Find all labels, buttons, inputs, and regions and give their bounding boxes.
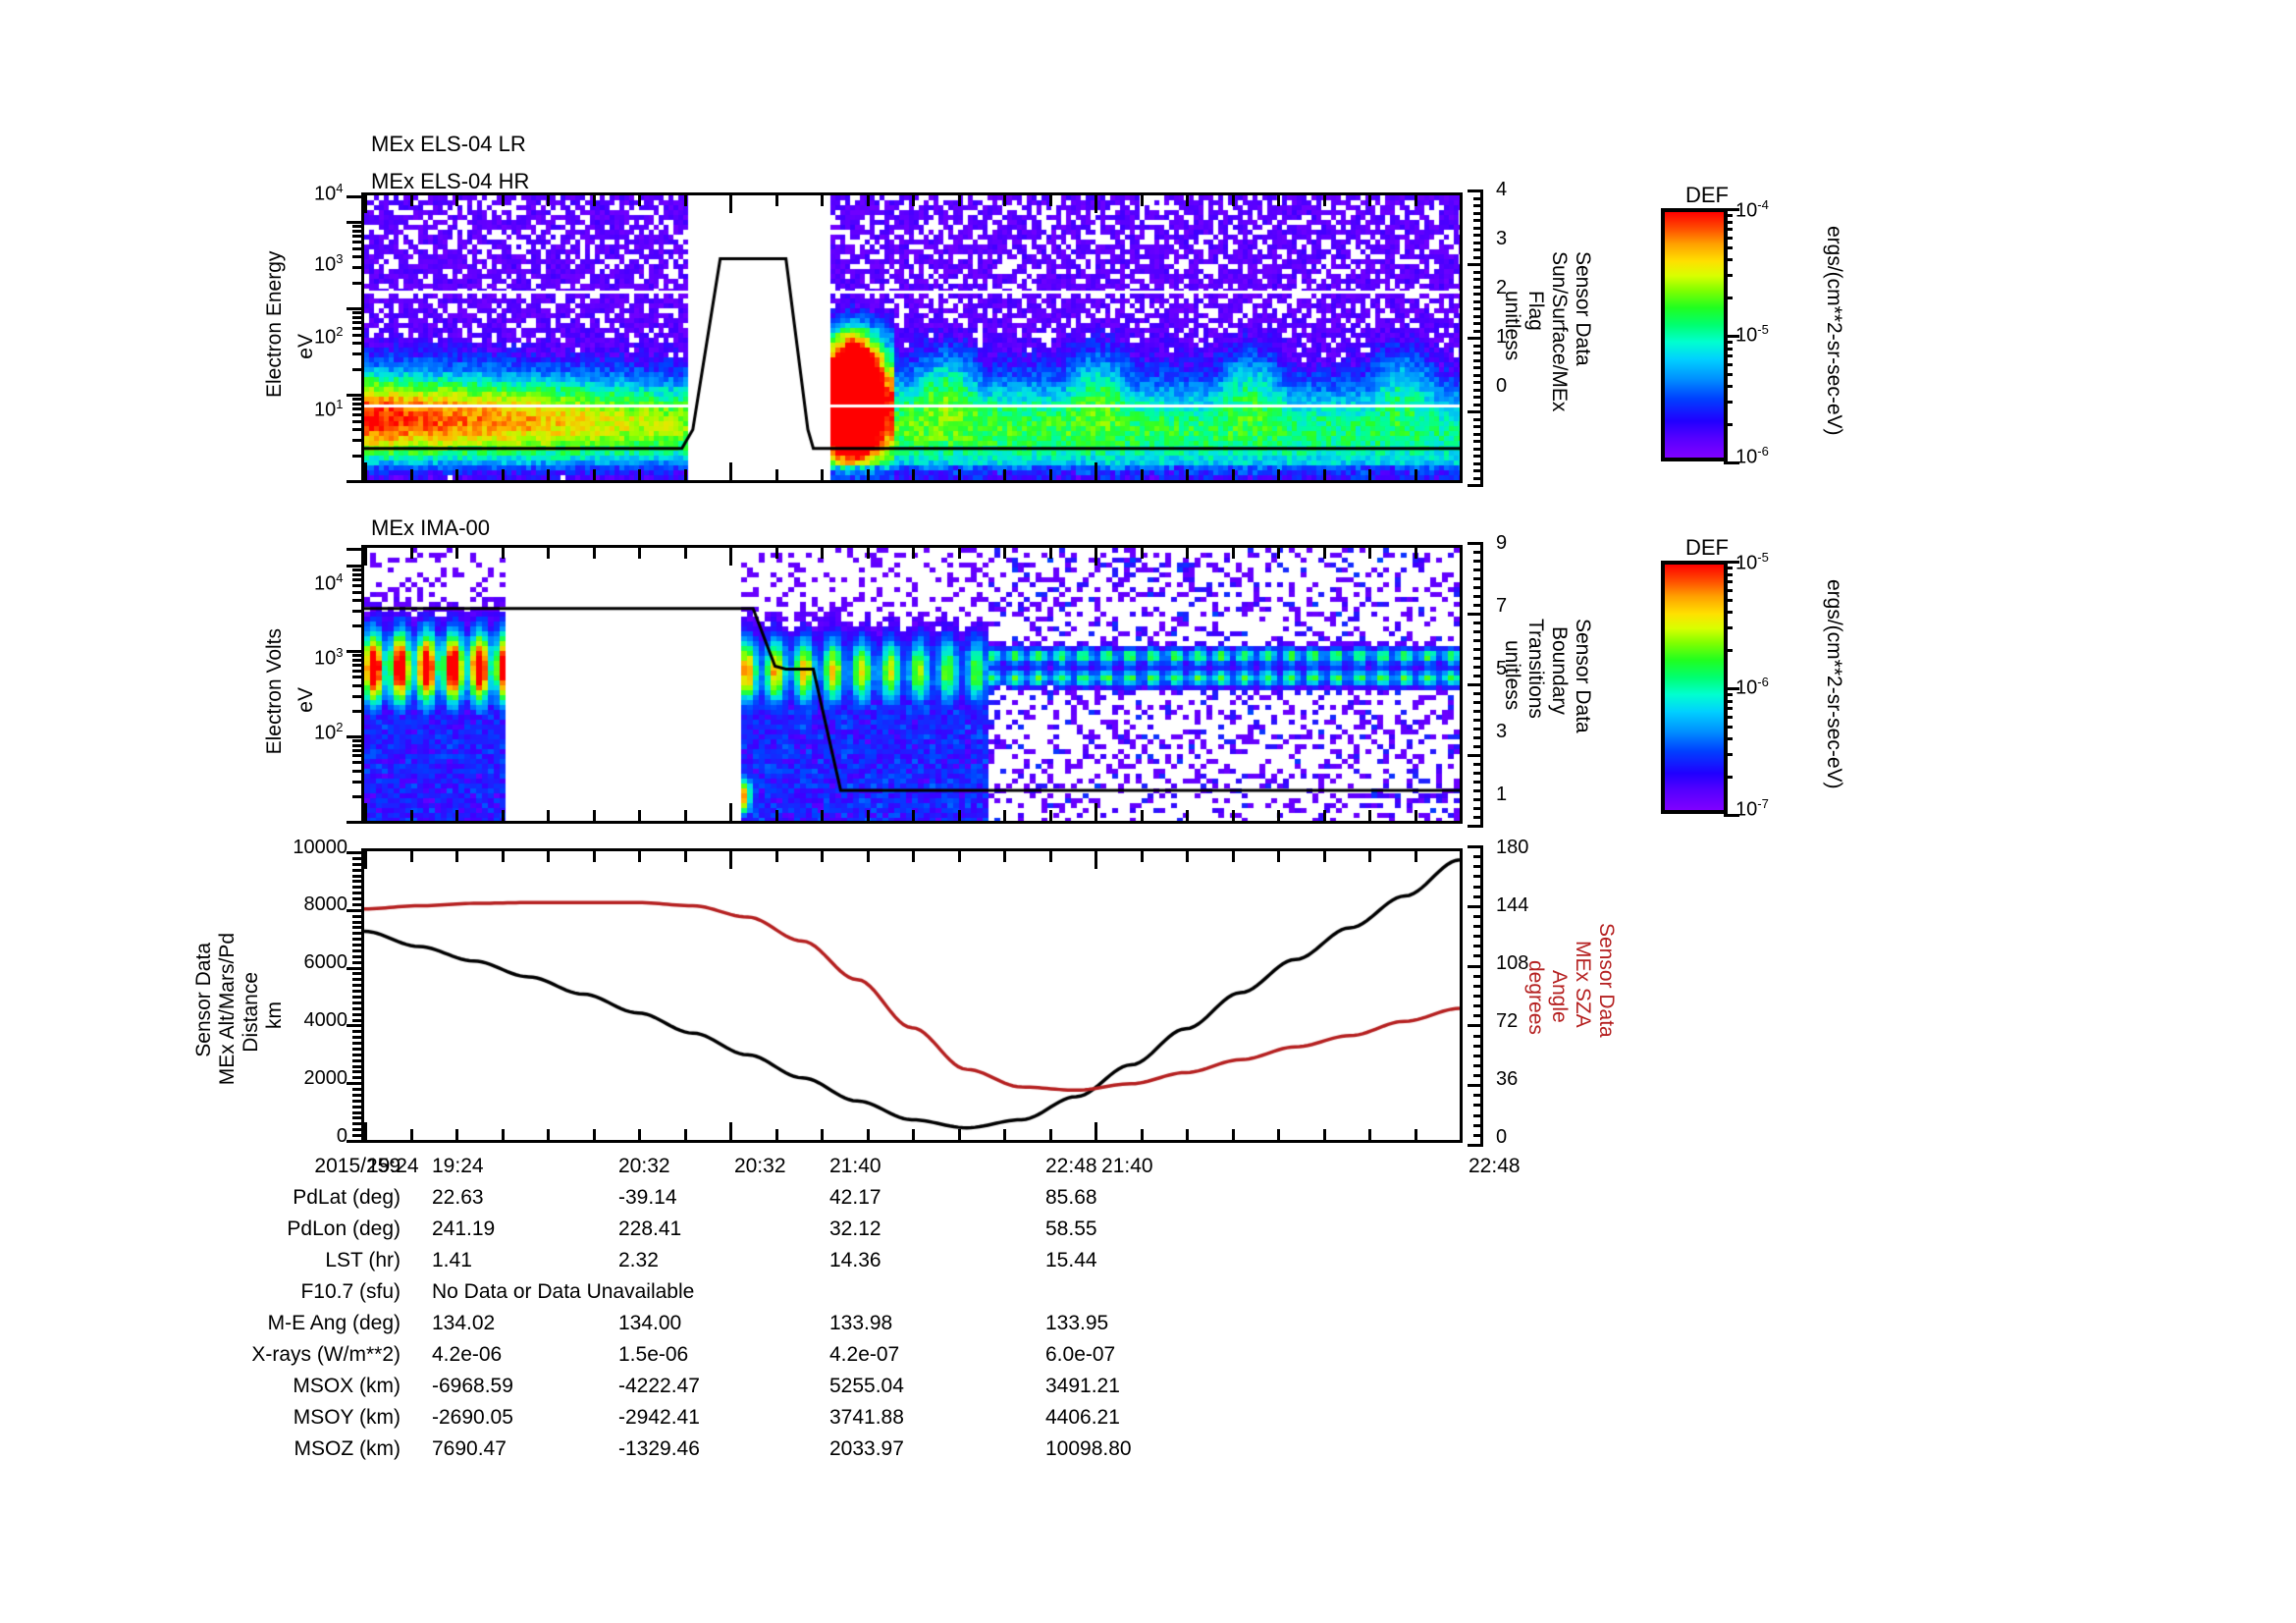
axis-tick: [455, 469, 458, 480]
axis-tick: [547, 1129, 550, 1140]
axis-tick: [1473, 448, 1483, 451]
axis-tick: [1368, 1129, 1371, 1140]
table-cell: 241.19: [432, 1217, 495, 1241]
table-cell: -4222.47: [618, 1375, 700, 1398]
panel3-rtick-72: 72: [1496, 1010, 1518, 1033]
axis-tick: [867, 195, 870, 206]
axis-tick: [352, 915, 362, 918]
axis-tick: [1473, 630, 1483, 633]
table-cell: 3741.88: [829, 1406, 904, 1430]
table-row-label: MSOX (km): [177, 1375, 400, 1398]
table-cell: 2033.97: [829, 1437, 904, 1461]
axis-tick: [1232, 851, 1235, 862]
axis-tick: [1724, 348, 1733, 351]
axis-tick: [352, 439, 362, 442]
axis-tick: [1049, 195, 1052, 206]
axis-tick: [352, 368, 362, 371]
axis-tick: [1473, 710, 1483, 713]
panel2-ytick-10e2: 102: [314, 720, 343, 745]
panel2-colorbar-max-exp: -5: [1757, 550, 1769, 565]
axis-tick: [352, 676, 362, 678]
axis-tick: [867, 548, 870, 559]
panel1-ytick-10e2: 102: [314, 324, 343, 350]
panel2-colorbar-mid-base: 10: [1735, 677, 1757, 699]
panel2-plot-area[interactable]: [361, 545, 1463, 824]
axis-tick: [1473, 234, 1483, 237]
axis-tick: [1468, 613, 1483, 616]
panel1-colorbar-max-base: 10: [1735, 200, 1757, 222]
axis-tick: [1473, 425, 1483, 428]
axis-tick: [352, 599, 362, 602]
axis-tick: [352, 225, 362, 228]
axis-tick: [867, 469, 870, 480]
axis-tick: [352, 761, 362, 764]
axis-tick: [1277, 1129, 1280, 1140]
panel2-colorbar-mid: 10-6: [1735, 675, 1769, 700]
axis-tick: [1468, 1144, 1483, 1147]
axis-tick: [1368, 548, 1371, 559]
axis-tick: [593, 1129, 596, 1140]
axis-tick: [1473, 1004, 1483, 1007]
panel2-right-axis: [1465, 542, 1490, 825]
axis-tick: [1095, 548, 1097, 566]
axis-tick: [455, 548, 458, 559]
axis-tick: [1473, 701, 1483, 704]
axis-tick: [1473, 915, 1483, 918]
axis-tick: [729, 548, 732, 566]
axis-tick: [1473, 816, 1483, 819]
axis-tick: [1415, 1129, 1417, 1140]
axis-tick: [1473, 286, 1483, 289]
axis-tick: [1473, 359, 1483, 362]
table-cell: 85.68: [1045, 1186, 1097, 1210]
axis-tick: [1468, 410, 1483, 413]
panel2-colorbar-min: 10-7: [1735, 796, 1769, 822]
axis-tick: [958, 195, 961, 206]
axis-tick: [1724, 423, 1733, 426]
axis-tick: [352, 739, 362, 742]
axis-tick: [1473, 586, 1483, 589]
panel2-y-axis-label: Electron Volts: [263, 628, 287, 754]
panel3-right-axis: [1465, 845, 1490, 1144]
axis-tick: [352, 880, 362, 883]
panel2-colorbar-max: 10-5: [1735, 550, 1769, 575]
axis-tick: [352, 749, 362, 752]
axis-tick: [410, 810, 413, 821]
axis-tick: [1473, 404, 1483, 406]
table-cell: 133.95: [1045, 1312, 1108, 1335]
axis-tick: [775, 851, 778, 862]
table-cell: 20:32: [618, 1155, 670, 1178]
panel3-y-axis-label-1: Sensor Data: [192, 943, 216, 1057]
panel1-colorbar-min-exp: -6: [1757, 444, 1769, 459]
panel2-ytick-10e4-exp: 4: [336, 570, 343, 585]
panel2-ytick-10e4: 104: [314, 570, 343, 596]
table-cell: 133.98: [829, 1312, 892, 1335]
axis-tick: [547, 810, 550, 821]
axis-tick: [352, 407, 362, 410]
axis-tick: [352, 781, 362, 784]
axis-tick: [1473, 271, 1483, 274]
axis-tick: [1473, 781, 1483, 784]
axis-tick: [1473, 1114, 1483, 1117]
axis-tick: [1724, 228, 1733, 231]
axis-tick: [1724, 753, 1733, 756]
table-cell: 42.17: [829, 1186, 881, 1210]
axis-tick: [352, 455, 362, 458]
axis-tick: [912, 195, 915, 206]
axis-tick: [1724, 297, 1733, 299]
panel3-rtick-36: 36: [1496, 1068, 1518, 1091]
panel3-rtick-0: 0: [1496, 1126, 1507, 1149]
axis-tick: [1473, 366, 1483, 369]
table-cell: 22:48: [1045, 1155, 1097, 1178]
axis-tick: [352, 978, 362, 981]
axis-tick: [1473, 622, 1483, 624]
panel1-plot-area[interactable]: [361, 192, 1463, 483]
axis-tick: [352, 670, 362, 673]
axis-tick: [352, 573, 362, 576]
table-cell: 228.41: [618, 1217, 681, 1241]
axis-tick: [1473, 1104, 1483, 1107]
axis-tick: [1473, 462, 1483, 465]
axis-tick: [347, 1082, 362, 1085]
table-cell: -6968.59: [432, 1375, 513, 1398]
axis-tick: [958, 1129, 961, 1140]
axis-tick: [1473, 807, 1483, 810]
axis-tick: [352, 654, 362, 657]
axis-tick: [352, 1116, 362, 1119]
axis-tick: [1473, 895, 1483, 898]
table-cell: 10098.80: [1045, 1437, 1132, 1461]
axis-tick: [364, 462, 367, 480]
axis-tick: [1724, 214, 1733, 217]
axis-tick: [821, 851, 824, 862]
axis-tick: [1415, 195, 1417, 206]
panel2-y-axis-units-text: eV: [294, 687, 317, 713]
axis-tick: [1049, 548, 1052, 559]
axis-tick: [547, 851, 550, 862]
axis-tick: [1724, 237, 1733, 240]
axis-tick: [1473, 227, 1483, 230]
table-cell: No Data or Data Unavailable: [432, 1280, 694, 1304]
axis-tick: [1724, 221, 1733, 224]
axis-tick: [1473, 300, 1483, 303]
axis-tick: [455, 1129, 458, 1140]
axis-tick: [364, 851, 367, 869]
axis-tick: [1473, 855, 1483, 858]
axis-tick: [352, 961, 362, 964]
axis-tick: [352, 1100, 362, 1103]
axis-tick: [1186, 469, 1189, 480]
axis-tick: [958, 548, 961, 559]
axis-tick: [1473, 1134, 1483, 1137]
axis-tick: [1468, 189, 1483, 192]
axis-tick: [1232, 195, 1235, 206]
axis-tick: [1724, 573, 1733, 576]
axis-tick: [1473, 995, 1483, 998]
axis-tick: [352, 342, 362, 345]
axis-tick: [410, 469, 413, 480]
panel3-ytick-8000: 8000: [267, 893, 347, 916]
table-cell: 14.36: [829, 1249, 881, 1272]
axis-tick: [1473, 352, 1483, 354]
axis-tick: [347, 565, 362, 568]
axis-tick: [638, 1129, 641, 1140]
axis-tick: [352, 334, 362, 337]
table-cell: 134.00: [618, 1312, 681, 1335]
axis-tick: [1368, 195, 1371, 206]
axis-tick: [352, 1094, 362, 1097]
panel3-ytick-6000: 6000: [267, 951, 347, 974]
axis-tick: [684, 548, 687, 559]
table-cell: 4406.21: [1045, 1406, 1120, 1430]
axis-tick: [1473, 345, 1483, 348]
axis-tick: [729, 851, 732, 869]
axis-tick: [1724, 589, 1733, 592]
panel3-ytick-4000: 4000: [267, 1009, 347, 1032]
axis-tick: [912, 469, 915, 480]
axis-tick: [547, 548, 550, 559]
axis-tick: [1473, 278, 1483, 281]
axis-tick: [1473, 204, 1483, 207]
axis-tick: [352, 266, 362, 269]
table-cell: 1.5e-06: [618, 1343, 688, 1367]
xaxis-tick-label: 22:48: [1468, 1155, 1521, 1178]
panel2-colorbar-min-base: 10: [1735, 799, 1757, 821]
axis-tick: [1141, 548, 1144, 559]
axis-tick: [1473, 1064, 1483, 1067]
axis-tick: [1473, 418, 1483, 421]
table-cell: 3491.21: [1045, 1375, 1120, 1398]
panel1-spectrogram: [364, 195, 1460, 480]
table-cell: -2690.05: [432, 1406, 513, 1430]
axis-tick: [1473, 242, 1483, 244]
axis-tick: [1141, 195, 1144, 206]
panel2-title: MEx IMA-00: [371, 515, 490, 541]
axis-tick: [455, 851, 458, 862]
axis-tick: [1724, 626, 1733, 629]
axis-tick: [821, 810, 824, 821]
axis-tick: [1468, 484, 1483, 487]
axis-tick: [1724, 258, 1733, 261]
axis-tick: [1473, 577, 1483, 580]
axis-tick: [729, 1122, 732, 1140]
axis-tick: [1232, 1129, 1235, 1140]
table-row-label: MSOY (km): [177, 1406, 400, 1430]
xaxis-tick-label: 20:32: [734, 1155, 786, 1178]
axis-tick: [352, 863, 362, 866]
axis-tick: [502, 810, 505, 821]
axis-tick: [1473, 657, 1483, 660]
table-cell: 4.2e-06: [432, 1343, 502, 1367]
axis-tick: [352, 659, 362, 662]
axis-tick: [352, 875, 362, 878]
axis-tick: [684, 469, 687, 480]
axis-tick: [1095, 195, 1097, 213]
panel1-ytick-10e1: 101: [314, 397, 343, 422]
axis-tick: [347, 548, 362, 551]
panel2-colorbar-title: DEF: [1685, 535, 1729, 561]
panel1-ytick-10e1-base: 10: [314, 400, 336, 421]
axis-tick: [352, 869, 362, 872]
axis-tick: [1724, 385, 1733, 388]
table-cell: 32.12: [829, 1217, 881, 1241]
axis-tick: [638, 195, 641, 206]
axis-tick: [352, 664, 362, 667]
axis-tick: [352, 1088, 362, 1091]
axis-tick: [1473, 692, 1483, 695]
panel2-right-axis-label-2: Boundary: [1547, 626, 1571, 715]
axis-tick: [1468, 754, 1483, 757]
axis-tick: [1460, 851, 1463, 869]
axis-tick: [347, 851, 362, 854]
axis-spine: [361, 195, 364, 480]
axis-tick: [347, 967, 362, 970]
axis-tick: [958, 851, 961, 862]
axis-tick: [1724, 567, 1733, 569]
panel2-ytick-10e2-base: 10: [314, 723, 336, 744]
axis-tick: [1323, 851, 1326, 862]
axis-tick: [1724, 274, 1733, 277]
table-cell: 4.2e-07: [829, 1343, 899, 1367]
axis-tick: [547, 195, 550, 206]
axis-tick: [352, 1076, 362, 1079]
panel1-y-axis-label: Electron Energy: [263, 226, 287, 422]
axis-tick: [364, 195, 367, 213]
axis-tick: [1095, 1122, 1097, 1140]
axis-tick: [1473, 381, 1483, 384]
panel3-ytick-2000: 2000: [267, 1067, 347, 1090]
axis-tick: [352, 990, 362, 993]
axis-tick: [1141, 851, 1144, 862]
axis-tick: [1724, 693, 1733, 696]
axis-tick: [1415, 851, 1417, 862]
axis-tick: [1460, 803, 1463, 821]
axis-tick: [1724, 599, 1733, 602]
table-row-label: LST (hr): [177, 1249, 400, 1272]
axis-tick: [1473, 1035, 1483, 1038]
axis-tick: [867, 810, 870, 821]
axis-tick: [912, 1129, 915, 1140]
axis-tick: [729, 195, 732, 213]
panel3-right-axis-label-1: Sensor Data: [1594, 923, 1618, 1038]
axis-tick: [1473, 389, 1483, 392]
axis-tick: [593, 851, 596, 862]
axis-tick: [729, 803, 732, 821]
panel1-ytick-10e4-exp: 4: [336, 181, 343, 195]
axis-tick: [1468, 825, 1483, 828]
axis-tick: [912, 851, 915, 862]
axis-tick: [1049, 810, 1052, 821]
axis-tick: [352, 770, 362, 773]
panel2-colorbar-min-exp: -7: [1757, 796, 1769, 811]
axis-tick: [352, 316, 362, 319]
axis-tick: [1141, 469, 1144, 480]
panel2-colorbar-units: ergs/(cm**2-sr-sec-eV): [1822, 579, 1845, 789]
axis-tick: [684, 810, 687, 821]
axis-tick: [1186, 548, 1189, 559]
xaxis-tick-label: 21:40: [1101, 1155, 1153, 1178]
axis-tick: [352, 955, 362, 958]
panel1-rtick-3: 3: [1496, 228, 1507, 250]
axis-tick: [352, 624, 362, 627]
axis-tick: [684, 851, 687, 862]
panel1-colorbar-mid: 10-5: [1735, 322, 1769, 348]
axis-tick: [593, 810, 596, 821]
axis-tick: [455, 810, 458, 821]
table-cell: 15.44: [1045, 1249, 1097, 1272]
panel3-plot-area[interactable]: [361, 848, 1463, 1143]
axis-tick: [1468, 263, 1483, 266]
panel1-colorbar: [1661, 208, 1728, 461]
axis-tick: [352, 897, 362, 900]
axis-tick: [1724, 611, 1733, 614]
axis-tick: [821, 195, 824, 206]
axis-tick: [352, 1065, 362, 1068]
axis-tick: [1473, 666, 1483, 669]
table-row-label: PdLon (deg): [177, 1217, 400, 1241]
axis-tick: [1468, 1024, 1483, 1027]
axis-tick: [1323, 469, 1326, 480]
axis-tick: [455, 195, 458, 206]
axis-tick: [1473, 330, 1483, 333]
axis-tick: [410, 195, 413, 206]
axis-tick: [821, 1129, 824, 1140]
axis-tick: [638, 810, 641, 821]
axis-tick: [1186, 851, 1189, 862]
axis-tick: [1415, 469, 1417, 480]
table-cell: 134.02: [432, 1312, 495, 1335]
axis-tick: [1095, 851, 1097, 869]
panel1-colorbar-min-base: 10: [1735, 447, 1757, 468]
axis-tick: [347, 394, 362, 397]
table-cell: 22.63: [432, 1186, 484, 1210]
axis-tick: [1473, 985, 1483, 988]
panel1-ytick-10e2-exp: 2: [336, 324, 343, 339]
axis-tick: [1473, 736, 1483, 739]
axis-tick: [352, 282, 362, 285]
axis-tick: [1473, 604, 1483, 607]
axis-tick: [352, 230, 362, 233]
table-row-label: MSOZ (km): [177, 1437, 400, 1461]
axis-tick: [1003, 851, 1006, 862]
axis-tick: [352, 1122, 362, 1125]
axis-tick: [352, 1019, 362, 1022]
axis-tick: [1473, 455, 1483, 458]
axis-tick: [1473, 568, 1483, 571]
axis-tick: [593, 548, 596, 559]
axis-tick: [1232, 810, 1235, 821]
axis-tick: [958, 469, 961, 480]
axis-tick: [347, 821, 362, 824]
panel3-rtick-144: 144: [1496, 894, 1528, 917]
panel2-right-axis-label-3: Transitions: [1523, 619, 1547, 719]
panel3-y-axis-label-3: Distance: [240, 972, 263, 1053]
panel1-colorbar-max-exp: -4: [1757, 197, 1769, 212]
axis-tick: [1724, 737, 1733, 740]
axis-tick: [352, 398, 362, 401]
axis-tick: [1724, 707, 1733, 710]
panel1-right-axis-label-2: Sun/Surface/MEx: [1547, 251, 1571, 411]
axis-tick: [347, 1024, 362, 1027]
axis-tick: [1095, 462, 1097, 480]
axis-tick: [867, 1129, 870, 1140]
axis-tick: [821, 548, 824, 559]
axis-tick: [352, 1001, 362, 1004]
panel2-ytick-10e2-exp: 2: [336, 720, 343, 734]
axis-tick: [547, 469, 550, 480]
